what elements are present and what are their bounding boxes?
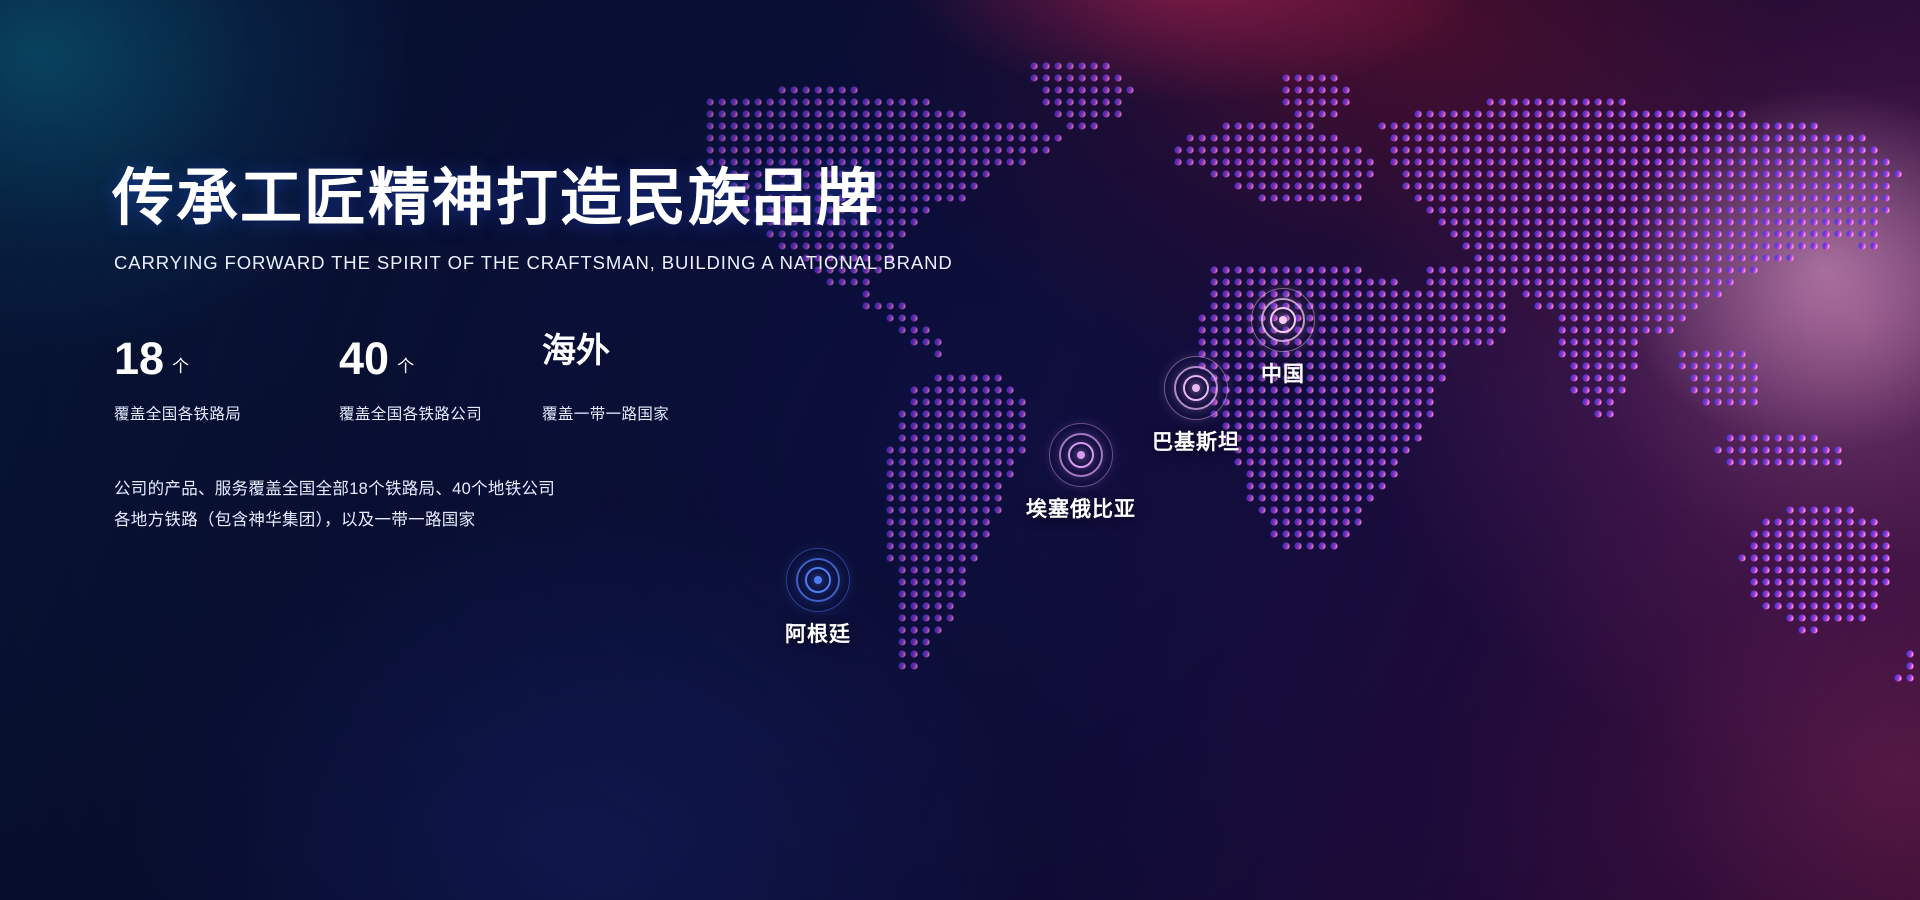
page-subtitle: CARRYING FORWARD THE SPIRIT OF THE CRAFT…: [114, 252, 953, 274]
map-marker-label-china: 中国: [1261, 358, 1305, 388]
stat-unit: 个: [172, 352, 189, 377]
stat-unit: 个: [397, 352, 414, 377]
stat-value-row: 海外: [542, 336, 669, 394]
stat-item-overseas: 海外 覆盖一带一路国家: [542, 336, 669, 424]
stat-label: 覆盖全国各铁路公司: [339, 402, 482, 424]
stat-value: 海外: [542, 334, 610, 368]
map-marker-label-pakistan: 巴基斯坦: [1152, 426, 1240, 456]
stat-item-railway-companies: 40 个 覆盖全国各铁路公司: [339, 336, 482, 424]
hero-content: 传承工匠精神打造民族品牌 CARRYING FORWARD THE SPIRIT…: [112, 0, 932, 900]
stat-value-row: 18 个: [114, 336, 241, 394]
body-description: 公司的产品、服务覆盖全国全部18个铁路局、40个地铁公司 各地方铁路（包含神华集…: [114, 474, 555, 536]
stat-label: 覆盖一带一路国家: [542, 402, 669, 424]
page-title: 传承工匠精神打造民族品牌: [112, 166, 880, 233]
stat-item-railway-bureaus: 18 个 覆盖全国各铁路局: [114, 336, 241, 424]
stat-label: 覆盖全国各铁路局: [114, 402, 241, 424]
stat-value: 18: [114, 336, 164, 381]
stat-value-row: 40 个: [339, 336, 482, 394]
stat-value: 40: [339, 336, 389, 381]
hero-banner: 中国巴基斯坦埃塞俄比亚阿根廷 传承工匠精神打造民族品牌 CARRYING FOR…: [0, 0, 1920, 900]
map-marker-label-ethiopia: 埃塞俄比亚: [1026, 493, 1136, 523]
body-line-2: 各地方铁路（包含神华集团），以及一带一路国家: [114, 505, 555, 536]
body-line-1: 公司的产品、服务覆盖全国全部18个铁路局、40个地铁公司: [114, 474, 555, 505]
